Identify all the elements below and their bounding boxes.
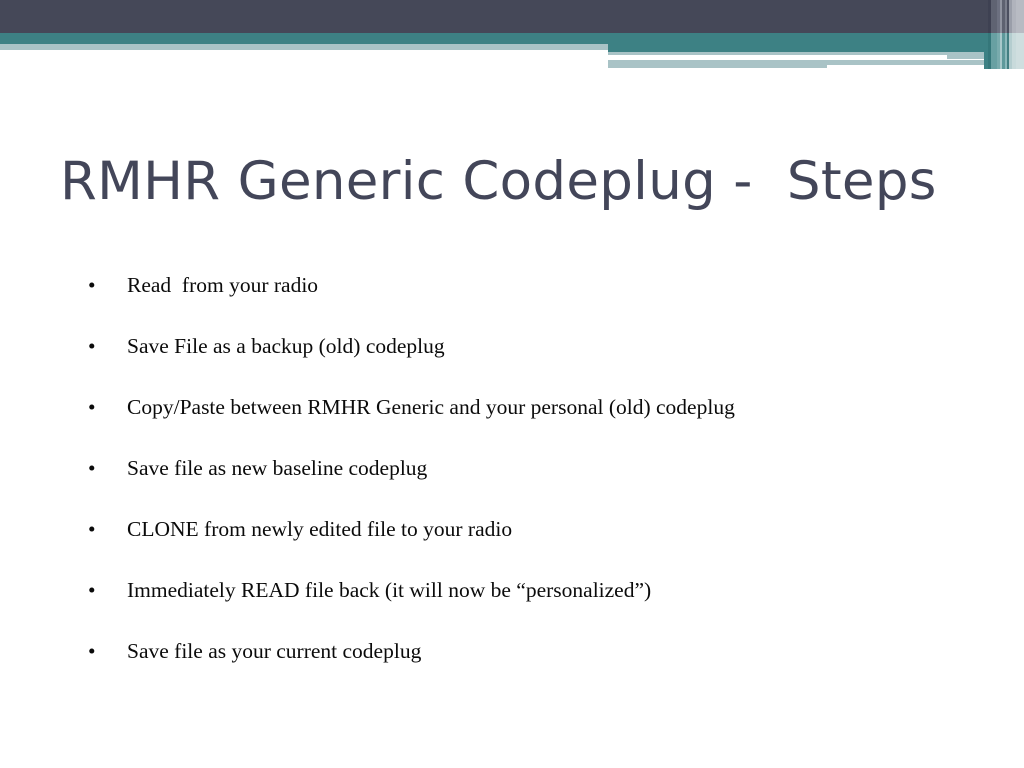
header-decoration <box>0 0 1024 80</box>
header-band-dark <box>0 0 1024 33</box>
bullet-point-icon: • <box>88 458 127 480</box>
header-edge-stripes <box>984 0 1024 70</box>
list-item: •Save File as a backup (old) codeplug <box>88 336 988 397</box>
list-item: •Save file as your current codeplug <box>88 641 988 702</box>
bullet-point-icon: • <box>88 580 127 602</box>
list-item-label: Save file as your current codeplug <box>127 641 988 663</box>
list-item: •Read from your radio <box>88 275 988 336</box>
bullet-point-icon: • <box>88 336 127 358</box>
list-item-label: Read from your radio <box>127 275 988 297</box>
bullet-list: •Read from your radio•Save File as a bac… <box>88 275 988 702</box>
list-item: •Copy/Paste between RMHR Generic and you… <box>88 397 988 458</box>
list-item: •Immediately READ file back (it will now… <box>88 580 988 641</box>
bullet-point-icon: • <box>88 397 127 419</box>
bullet-point-icon: • <box>88 641 127 663</box>
header-band-teal-right <box>608 33 1024 52</box>
list-item-label: Save file as new baseline codeplug <box>127 458 988 480</box>
list-item-label: Save File as a backup (old) codeplug <box>127 336 988 358</box>
edge-stripe <box>1016 0 1024 33</box>
list-item-label: CLONE from newly edited file to your rad… <box>127 519 988 541</box>
edge-stripe-lower <box>1016 33 1024 69</box>
slide-canvas: RMHR Generic Codeplug - Steps •Read from… <box>0 0 1024 768</box>
list-item-label: Copy/Paste between RMHR Generic and your… <box>127 397 988 419</box>
header-band-light-left <box>0 44 608 50</box>
list-item: •CLONE from newly edited file to your ra… <box>88 519 988 580</box>
list-item: •Save file as new baseline codeplug <box>88 458 988 519</box>
bullet-point-icon: • <box>88 275 127 297</box>
list-item-label: Immediately READ file back (it will now … <box>127 580 988 602</box>
page-title: RMHR Generic Codeplug - Steps <box>60 152 960 211</box>
bullet-point-icon: • <box>88 519 127 541</box>
